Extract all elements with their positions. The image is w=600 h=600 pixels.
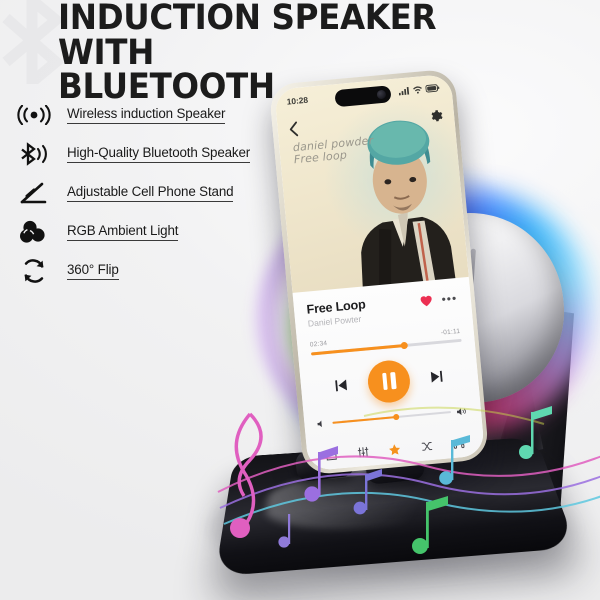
home-icon[interactable] xyxy=(325,449,338,462)
ellipsis-icon[interactable]: ••• xyxy=(441,294,457,303)
volume-control xyxy=(317,406,468,429)
feature-item-bluetooth: High-Quality Bluetooth Speaker xyxy=(14,135,306,173)
pause-icon[interactable] xyxy=(366,358,412,404)
feature-label: Adjustable Cell Phone Stand xyxy=(67,184,233,201)
heart-icon[interactable] xyxy=(419,294,433,307)
equalizer-icon[interactable] xyxy=(357,446,370,459)
star-icon[interactable] xyxy=(388,442,402,456)
skip-previous-icon[interactable] xyxy=(334,378,349,392)
elapsed-time: 02:34 xyxy=(309,339,327,348)
bottom-tab-bar xyxy=(306,435,483,464)
music-player-panel: Free Loop Daniel Powter ••• 0 xyxy=(292,276,484,470)
shuffle-icon[interactable] xyxy=(421,440,434,453)
feature-label: High-Quality Bluetooth Speaker xyxy=(67,145,250,162)
headphones-icon[interactable] xyxy=(452,437,465,450)
wifi-icon xyxy=(412,85,423,94)
feature-item-stand: Adjustable Cell Phone Stand xyxy=(14,174,306,212)
battery-icon xyxy=(425,83,440,92)
transport-controls xyxy=(312,353,466,409)
cellular-bars-icon xyxy=(398,86,410,95)
status-indicators xyxy=(398,83,440,95)
progress-knob[interactable] xyxy=(400,341,408,349)
remaining-time: -01:11 xyxy=(441,327,461,336)
rgb-circles-icon xyxy=(14,217,54,247)
volume-fill xyxy=(332,416,396,424)
volume-high-icon xyxy=(456,406,468,416)
skip-next-icon[interactable] xyxy=(429,370,444,384)
feature-label: RGB Ambient Light xyxy=(67,223,178,240)
pause-bar-right xyxy=(390,372,396,389)
front-camera-icon xyxy=(376,89,386,99)
wireless-signal-icon xyxy=(14,100,54,130)
rotate-flip-icon xyxy=(14,256,54,286)
feature-item-rgb: RGB Ambient Light xyxy=(14,213,306,251)
product-scene: Induction xyxy=(0,0,600,600)
feature-item-wireless: Wireless induction Speaker xyxy=(14,96,306,134)
product-banner: INDUCTION SPEAKER WITH BLUETOOTH xyxy=(0,0,600,600)
bluetooth-signal-icon xyxy=(14,139,54,169)
track-actions: ••• xyxy=(419,292,458,307)
track-info: Free Loop Daniel Powter xyxy=(306,297,367,328)
track-info-row: Free Loop Daniel Powter ••• xyxy=(306,289,459,329)
volume-low-icon xyxy=(317,419,327,428)
gear-icon[interactable] xyxy=(428,108,443,123)
feature-item-flip: 360° Flip xyxy=(14,252,306,290)
adjustable-angle-icon xyxy=(14,178,54,208)
volume-knob[interactable] xyxy=(393,414,400,421)
feature-list: Wireless induction Speaker High-Quality … xyxy=(14,96,306,291)
feature-label: Wireless induction Speaker xyxy=(67,106,225,123)
volume-slider[interactable] xyxy=(332,411,451,424)
pause-bar-left xyxy=(382,373,388,390)
feature-label: 360° Flip xyxy=(67,262,119,279)
